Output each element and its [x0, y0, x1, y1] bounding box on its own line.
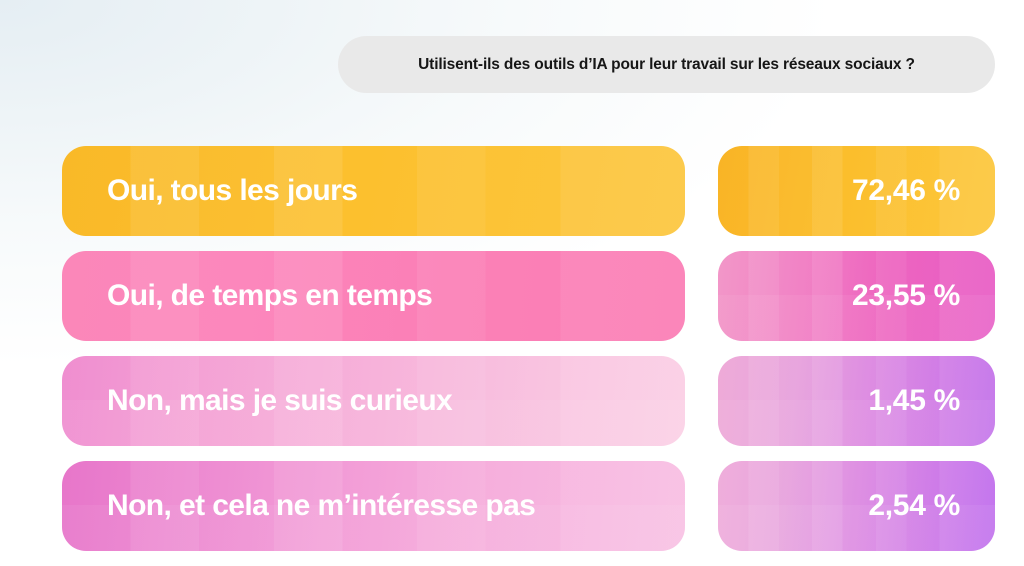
result-row: Oui, de temps en temps 23,55 % [0, 251, 1024, 341]
percentage-chip-2[interactable]: 23,55 % [718, 251, 995, 341]
percentage-value-3: 1,45 % [868, 384, 995, 418]
result-row: Non, mais je suis curieux 1,45 % [0, 356, 1024, 446]
answer-bar-4[interactable]: Non, et cela ne m’intéresse pas [62, 461, 685, 551]
result-row: Oui, tous les jours 72,46 % [0, 146, 1024, 236]
answer-bar-2[interactable]: Oui, de temps en temps [62, 251, 685, 341]
result-row: Non, et cela ne m’intéresse pas 2,54 % [0, 461, 1024, 551]
percentage-chip-4[interactable]: 2,54 % [718, 461, 995, 551]
question-pill: Utilisent-ils des outils d’IA pour leur … [338, 36, 995, 93]
percentage-chip-1[interactable]: 72,46 % [718, 146, 995, 236]
percentage-value-1: 72,46 % [852, 174, 995, 208]
answer-label-3: Non, mais je suis curieux [62, 384, 452, 418]
percentage-value-2: 23,55 % [852, 279, 995, 313]
question-text: Utilisent-ils des outils d’IA pour leur … [418, 56, 915, 74]
answer-bar-3[interactable]: Non, mais je suis curieux [62, 356, 685, 446]
answer-label-2: Oui, de temps en temps [62, 279, 432, 313]
poll-results-board: Utilisent-ils des outils d’IA pour leur … [0, 0, 1024, 566]
percentage-value-4: 2,54 % [868, 489, 995, 523]
percentage-chip-3[interactable]: 1,45 % [718, 356, 995, 446]
answer-label-4: Non, et cela ne m’intéresse pas [62, 489, 535, 523]
answer-label-1: Oui, tous les jours [62, 174, 357, 208]
answer-bar-1[interactable]: Oui, tous les jours [62, 146, 685, 236]
